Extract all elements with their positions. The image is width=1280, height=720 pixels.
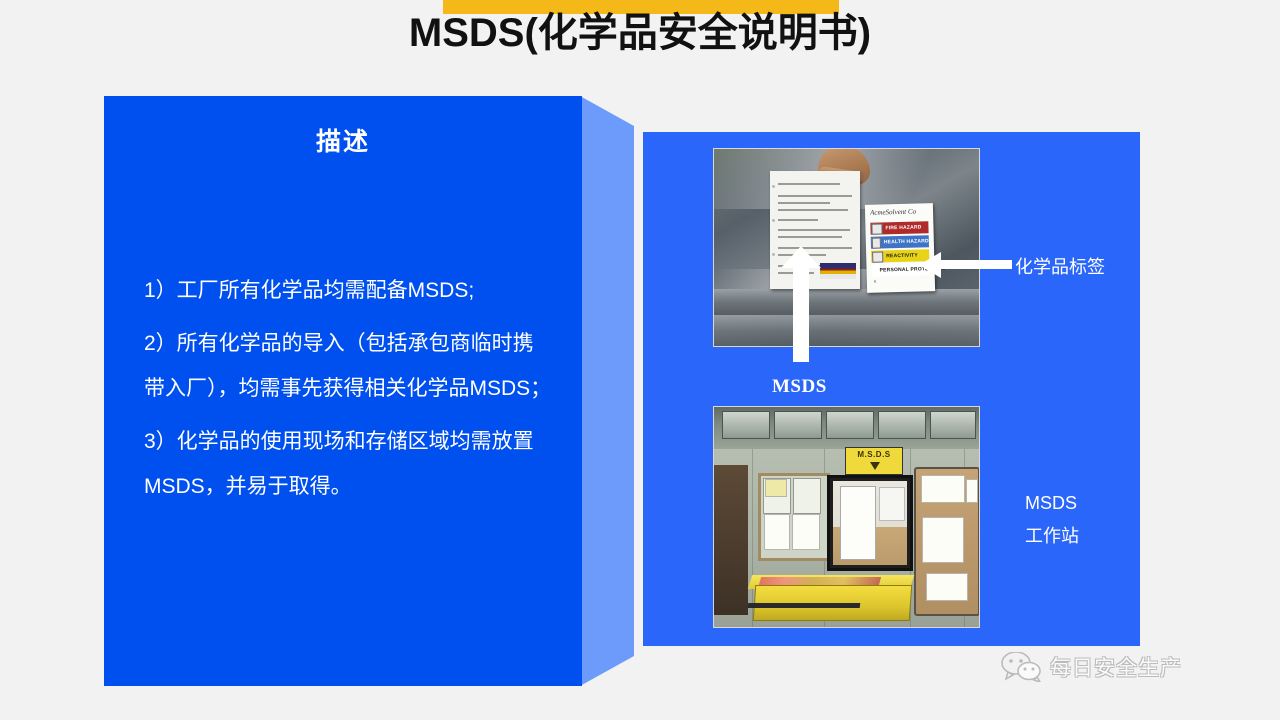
board-document [879,487,905,521]
chemical-hazard-label-card: AcmeSolvent Co FIRE HAZARD HEALTH HAZARD… [865,203,935,293]
msds-sign: M.S.D.S [845,447,903,475]
description-item-1: 1）工厂所有化学品均需配备MSDS; [144,268,554,313]
hazard-card-title: AcmeSolvent Co [870,207,928,220]
description-panel: 描述 1）工厂所有化学品均需配备MSDS; 2）所有化学品的导入（包括承包商临时… [104,96,634,686]
doorway [714,465,748,615]
hazard-rating-box [872,251,883,262]
clerestory-window [774,411,822,439]
binder-holes [772,185,775,188]
watermark: 每日安全生产 [1000,652,1182,682]
cork-paper [921,475,965,503]
page-title: MSDS(化学品安全说明书) [0,6,1280,60]
cork-paper [966,479,978,503]
hazard-rating-box [872,237,881,248]
slide-canvas: MSDS(化学品安全说明书) 描述 1）工厂所有化学品均需配备MSDS; 2）所… [0,0,1280,720]
hazard-row-label: HEALTH HAZARD [884,238,929,245]
cork-paper [926,573,968,601]
shelf-contents [759,577,881,585]
board-surface [833,481,907,565]
document-color-strip [820,263,856,279]
hazard-row-fire: FIRE HAZARD [870,221,928,235]
msds-document-sheet [770,171,860,289]
clerestory-window [878,411,926,439]
panel-3d-side-face [580,96,634,686]
pallet-band-upper [714,289,979,315]
pallet-band-lower [714,315,979,346]
hazard-row-label: FIRE HAZARD [885,224,921,231]
callout-label-workstation-line2: 工作站 [1025,520,1079,553]
arrow-up-shaft [793,262,809,362]
notice-window [758,473,830,561]
arrow-left-icon [919,252,941,278]
callout-label-msds: MSDS [772,376,827,398]
panel-front-face: 描述 1）工厂所有化学品均需配备MSDS; 2）所有化学品的导入（包括承包商临时… [104,96,582,686]
msds-workstation-photo: M.S.D.S [713,406,980,628]
clerestory-window [930,411,976,439]
shelf-edge-bar [748,603,861,608]
cork-paper [922,517,964,563]
down-arrow-icon [870,462,880,470]
notice-paper-yellow [765,479,787,497]
hazard-row-label: REACTIVITY [886,253,918,260]
notice-paper [792,514,820,550]
arrow-left-shaft [940,260,1012,269]
callout-label-chemical-tag: 化学品标签 [1015,253,1105,279]
msds-display-board [827,475,913,571]
hazard-rating-box [871,223,882,234]
panel-header-title: 描述 [104,122,582,158]
photo-scene-pallet: AcmeSolvent Co FIRE HAZARD HEALTH HAZARD… [714,149,979,346]
notice-paper [764,514,790,550]
cork-notice-board [914,467,980,616]
callout-label-workstation: MSDS 工作站 [1025,487,1079,553]
photo-scene-workstation: M.S.D.S [714,407,979,627]
clerestory-window [722,411,770,439]
msds-sign-label: M.S.D.S [846,450,902,459]
callout-label-workstation-line1: MSDS [1025,487,1079,520]
hazard-card-footer: K [874,279,877,284]
msds-document-and-chemical-label-photo: AcmeSolvent Co FIRE HAZARD HEALTH HAZARD… [713,148,980,347]
description-item-2: 2）所有化学品的导入（包括承包商临时携带入厂），均需事先获得相关化学品MSDS； [144,321,554,411]
board-document [840,486,876,560]
hazard-row-health: HEALTH HAZARD [871,235,929,249]
clerestory-window [826,411,874,439]
images-panel: AcmeSolvent Co FIRE HAZARD HEALTH HAZARD… [643,132,1140,646]
description-item-3: 3）化学品的使用现场和存储区域均需放置MSDS，并易于取得。 [144,419,554,509]
description-list: 1）工厂所有化学品均需配备MSDS; 2）所有化学品的导入（包括承包商临时携带入… [144,268,554,517]
watermark-text: 每日安全生产 [1050,652,1182,682]
wechat-icon [1000,652,1044,682]
